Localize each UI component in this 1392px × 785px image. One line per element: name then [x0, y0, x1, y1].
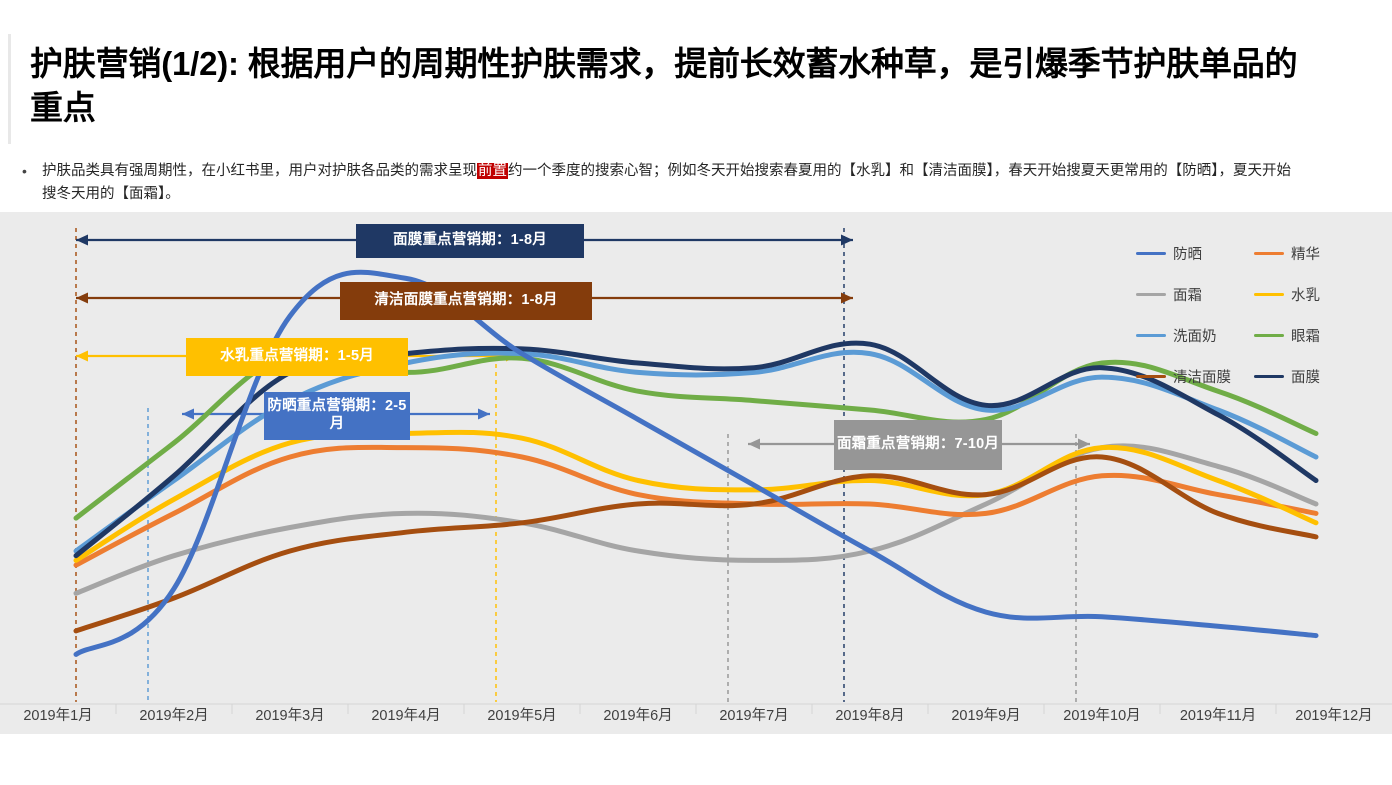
legend-item-洗面奶[interactable]: 洗面奶: [1136, 326, 1254, 344]
x-axis-tick-7: 2019年7月: [696, 704, 812, 732]
legend-label: 防晒: [1173, 243, 1202, 264]
x-axis-tick-1: 2019年1月: [0, 704, 116, 732]
x-axis-tick-4: 2019年4月: [348, 704, 464, 732]
x-axis-tick-3: 2019年3月: [232, 704, 348, 732]
legend-item-面膜[interactable]: 面膜: [1254, 367, 1354, 385]
x-axis-tick-8: 2019年8月: [812, 704, 928, 732]
page-title: 护肤营销(1/2): 根据用户的周期性护肤需求，提前长效蓄水种草，是引爆季节护肤…: [30, 42, 1300, 130]
title-accent-rule: [8, 34, 11, 144]
legend-swatch-icon: [1136, 334, 1166, 337]
chart-legend: 防晒精华面霜水乳洗面奶眼霜清洁面膜面膜: [1136, 244, 1354, 385]
legend-item-眼霜[interactable]: 眼霜: [1254, 326, 1354, 344]
x-axis-tick-11: 2019年11月: [1160, 704, 1276, 732]
callout-lotion-marketing: 水乳重点营销期：1-5月: [186, 338, 408, 376]
series-line-清洁面膜: [76, 457, 1316, 631]
legend-label: 洗面奶: [1173, 325, 1217, 346]
legend-swatch-icon: [1254, 334, 1284, 337]
legend-item-防晒[interactable]: 防晒: [1136, 244, 1254, 262]
legend-swatch-icon: [1254, 252, 1284, 255]
legend-swatch-icon: [1254, 293, 1284, 296]
legend-swatch-icon: [1136, 252, 1166, 255]
x-axis-tick-6: 2019年6月: [580, 704, 696, 732]
x-axis-tick-10: 2019年10月: [1044, 704, 1160, 732]
slide-footer: 小红书 Ipsos 数据来源：小红书 小红书TOP 护肤搜索热词2019年变化趋…: [0, 734, 1392, 785]
legend-label: 眼霜: [1291, 325, 1320, 346]
callout-face-cream-marketing: 面霜重点营销期：7-10月: [834, 420, 1002, 470]
bullet-text: 护肤品类具有强周期性，在小红书里，用户对护肤各品类的需求呈现前置约一个季度的搜索…: [22, 160, 1292, 207]
legend-label: 清洁面膜: [1173, 366, 1231, 387]
legend-label: 面膜: [1291, 366, 1320, 387]
legend-swatch-icon: [1136, 375, 1166, 378]
bullet-marker: •: [22, 160, 27, 183]
x-axis-tick-2: 2019年2月: [116, 704, 232, 732]
legend-item-面霜[interactable]: 面霜: [1136, 285, 1254, 303]
callout-mask-marketing: 面膜重点营销期：1-8月: [356, 224, 584, 258]
bullet-paragraph: • 护肤品类具有强周期性，在小红书里，用户对护肤各品类的需求呈现前置约一个季度的…: [22, 160, 1292, 207]
bullet-highlight: 前置: [477, 163, 508, 179]
x-axis-tick-12: 2019年12月: [1276, 704, 1392, 732]
x-axis-tick-5: 2019年5月: [464, 704, 580, 732]
x-axis-tick-9: 2019年9月: [928, 704, 1044, 732]
legend-label: 水乳: [1291, 284, 1320, 305]
slide-root: 护肤营销(1/2): 根据用户的周期性护肤需求，提前长效蓄水种草，是引爆季节护肤…: [0, 0, 1392, 785]
bullet-text-part1: 护肤品类具有强周期性，在小红书里，用户对护肤各品类的需求呈现: [42, 163, 477, 179]
legend-swatch-icon: [1254, 375, 1284, 378]
legend-item-精华[interactable]: 精华: [1254, 244, 1354, 262]
legend-swatch-icon: [1136, 293, 1166, 296]
legend-item-水乳[interactable]: 水乳: [1254, 285, 1354, 303]
legend-item-清洁面膜[interactable]: 清洁面膜: [1136, 367, 1254, 385]
legend-label: 面霜: [1173, 284, 1202, 305]
callout-sunscreen-marketing: 防晒重点营销期：2-5月: [264, 392, 410, 440]
callout-cleansing-mask-marketing: 清洁面膜重点营销期：1-8月: [340, 282, 592, 320]
legend-label: 精华: [1291, 243, 1320, 264]
x-axis-labels: 2019年1月2019年2月2019年3月2019年4月2019年5月2019年…: [0, 704, 1392, 732]
